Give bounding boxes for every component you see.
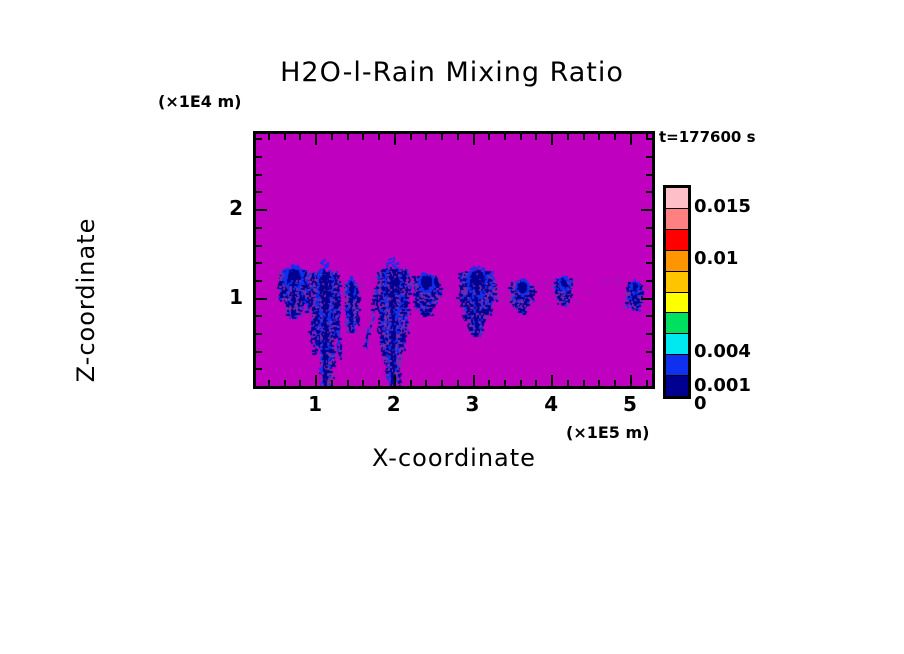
colorbar-band-0.01 xyxy=(666,251,688,272)
x-minor-tick-top xyxy=(268,134,270,140)
x-minor-tick xyxy=(598,380,600,386)
y-minor-tick xyxy=(256,262,262,264)
y-minor-tick xyxy=(256,156,262,158)
x-major-tick xyxy=(551,375,553,386)
colorbar-label: 0 xyxy=(694,393,707,414)
y-minor-tick-right xyxy=(646,262,652,264)
y-major-tick xyxy=(256,209,267,211)
y-minor-tick-right xyxy=(646,351,652,353)
x-minor-tick xyxy=(347,380,349,386)
y-minor-tick xyxy=(256,351,262,353)
x-major-tick xyxy=(315,375,317,386)
x-minor-tick xyxy=(378,380,380,386)
y-minor-tick xyxy=(256,333,262,335)
y-major-tick-right xyxy=(641,209,652,211)
colorbar-band-0.003 xyxy=(666,334,688,355)
x-minor-tick-top xyxy=(567,134,569,140)
colorbar-band-0.015 xyxy=(666,188,688,209)
x-axis-unit-label: (×1E5 m) xyxy=(566,423,649,442)
x-minor-tick xyxy=(614,380,616,386)
x-minor-tick xyxy=(646,380,648,386)
y-axis-unit-label: (×1E4 m) xyxy=(158,92,241,111)
x-minor-tick xyxy=(583,380,585,386)
x-major-tick-top xyxy=(473,134,475,145)
x-minor-tick-top xyxy=(504,134,506,140)
x-minor-tick-top xyxy=(520,134,522,140)
x-minor-tick xyxy=(410,380,412,386)
y-minor-tick xyxy=(256,315,262,317)
colorbar-band-0.006 xyxy=(666,293,688,314)
x-minor-tick xyxy=(567,380,569,386)
x-minor-tick-top xyxy=(331,134,333,140)
x-minor-tick-top xyxy=(347,134,349,140)
x-major-tick-top xyxy=(315,134,317,145)
x-minor-tick xyxy=(362,380,364,386)
x-tick-label: 4 xyxy=(531,392,571,416)
y-minor-tick-right xyxy=(646,280,652,282)
x-minor-tick xyxy=(504,380,506,386)
colorbar-band-0.002 xyxy=(666,355,688,376)
colorbar-label: 0.015 xyxy=(694,196,751,217)
x-minor-tick xyxy=(520,380,522,386)
x-tick-label: 2 xyxy=(374,392,414,416)
x-minor-tick xyxy=(268,380,270,386)
y-minor-tick-right xyxy=(646,333,652,335)
y-tick-label: 2 xyxy=(213,196,243,220)
x-minor-tick xyxy=(425,380,427,386)
y-minor-tick xyxy=(256,245,262,247)
colorbar-band-0.001 xyxy=(666,376,688,396)
x-minor-tick-top xyxy=(362,134,364,140)
x-minor-tick xyxy=(284,380,286,386)
x-tick-label: 5 xyxy=(610,392,650,416)
time-annotation: t=177600 s xyxy=(659,128,756,146)
y-minor-tick-right xyxy=(646,191,652,193)
x-minor-tick-top xyxy=(378,134,380,140)
heatmap-canvas xyxy=(256,134,652,386)
y-minor-tick xyxy=(256,227,262,229)
y-major-tick xyxy=(256,298,267,300)
x-minor-tick-top xyxy=(410,134,412,140)
x-minor-tick-top xyxy=(425,134,427,140)
x-tick-label: 1 xyxy=(295,392,335,416)
x-minor-tick xyxy=(457,380,459,386)
x-major-tick-top xyxy=(551,134,553,145)
x-major-tick xyxy=(630,375,632,386)
y-minor-tick xyxy=(256,174,262,176)
x-minor-tick-top xyxy=(614,134,616,140)
x-major-tick-top xyxy=(630,134,632,145)
x-axis-title: X-coordinate xyxy=(253,444,655,472)
x-minor-tick-top xyxy=(284,134,286,140)
x-minor-tick xyxy=(488,380,490,386)
colorbar-label: 0.004 xyxy=(694,341,751,362)
y-minor-tick-right xyxy=(646,245,652,247)
x-tick-label: 3 xyxy=(453,392,493,416)
x-minor-tick-top xyxy=(441,134,443,140)
x-minor-tick xyxy=(299,380,301,386)
y-minor-tick-right xyxy=(646,156,652,158)
y-major-tick-right xyxy=(641,298,652,300)
y-minor-tick-right xyxy=(646,174,652,176)
y-minor-tick xyxy=(256,191,262,193)
y-minor-tick-right xyxy=(646,315,652,317)
colorbar-band-0.004 xyxy=(666,313,688,334)
y-minor-tick xyxy=(256,368,262,370)
page-title: H2O-l-Rain Mixing Ratio xyxy=(0,57,904,88)
y-axis-title: Z-coordinate xyxy=(72,90,100,510)
y-minor-tick xyxy=(256,138,262,140)
y-tick-label: 1 xyxy=(213,285,243,309)
plot-area[interactable] xyxy=(253,131,655,389)
x-minor-tick xyxy=(441,380,443,386)
x-major-tick xyxy=(473,375,475,386)
x-minor-tick-top xyxy=(583,134,585,140)
x-minor-tick-top xyxy=(457,134,459,140)
x-minor-tick-top xyxy=(488,134,490,140)
x-major-tick xyxy=(394,375,396,386)
colorbar[interactable] xyxy=(663,185,691,399)
colorbar-band-0.008 xyxy=(666,272,688,293)
x-minor-tick xyxy=(535,380,537,386)
x-minor-tick-top xyxy=(299,134,301,140)
x-minor-tick-top xyxy=(535,134,537,140)
y-minor-tick xyxy=(256,280,262,282)
y-minor-tick-right xyxy=(646,227,652,229)
x-minor-tick-top xyxy=(598,134,600,140)
y-minor-tick-right xyxy=(646,368,652,370)
x-minor-tick xyxy=(331,380,333,386)
colorbar-label: 0.01 xyxy=(694,248,738,269)
colorbar-band-0.012 xyxy=(666,230,688,251)
colorbar-band-0.0135 xyxy=(666,209,688,230)
x-major-tick-top xyxy=(394,134,396,145)
y-minor-tick-right xyxy=(646,138,652,140)
